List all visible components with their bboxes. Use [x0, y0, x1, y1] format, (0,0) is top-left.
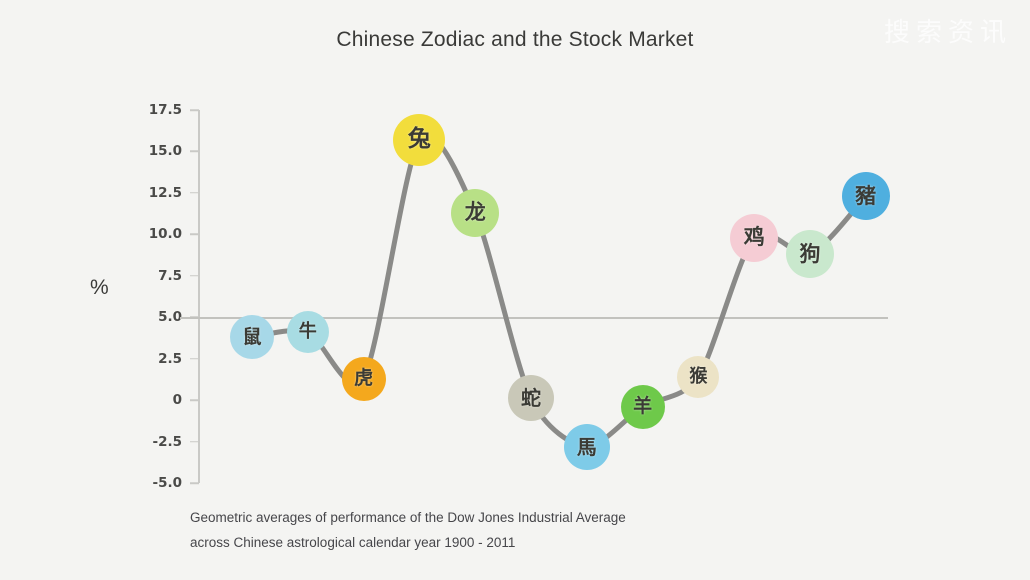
zodiac-glyph-ox: 牛: [299, 323, 317, 341]
zodiac-glyph-rooster: 鸡: [744, 227, 765, 248]
zodiac-glyph-goat: 羊: [633, 397, 652, 416]
caption-line-1: Geometric averages of performance of the…: [190, 505, 626, 530]
zodiac-glyph-pig: 豬: [855, 186, 876, 207]
zodiac-glyph-dragon: 龙: [465, 202, 486, 223]
zodiac-glyph-dog: 狗: [800, 244, 821, 265]
zodiac-glyph-snake: 蛇: [521, 388, 541, 408]
data-point-rat[interactable]: 鼠: [230, 315, 274, 359]
data-point-rooster[interactable]: 鸡: [730, 214, 778, 262]
series-polyline: [252, 135, 866, 446]
data-point-snake[interactable]: 蛇: [508, 375, 554, 421]
caption-line-2: across Chinese astrological calendar yea…: [190, 530, 626, 555]
data-point-dog[interactable]: 狗: [786, 230, 834, 278]
data-point-monkey[interactable]: 猴: [677, 356, 719, 398]
chart-canvas: 搜索资讯 Chinese Zodiac and the Stock Market…: [0, 0, 1030, 580]
data-point-horse[interactable]: 馬: [564, 424, 610, 470]
data-point-rabbit[interactable]: 兔: [393, 114, 445, 166]
chart-caption: Geometric averages of performance of the…: [190, 505, 626, 555]
zodiac-glyph-monkey: 猴: [689, 368, 707, 386]
data-point-tiger[interactable]: 虎: [342, 357, 386, 401]
series-line: [0, 0, 1030, 580]
zodiac-glyph-rat: 鼠: [242, 328, 261, 347]
zodiac-glyph-tiger: 虎: [354, 369, 373, 388]
data-point-pig[interactable]: 豬: [842, 172, 890, 220]
data-point-dragon[interactable]: 龙: [451, 189, 499, 237]
zodiac-glyph-rabbit: 兔: [408, 128, 431, 151]
zodiac-glyph-horse: 馬: [577, 437, 597, 457]
data-point-ox[interactable]: 牛: [287, 311, 329, 353]
data-point-goat[interactable]: 羊: [621, 385, 665, 429]
